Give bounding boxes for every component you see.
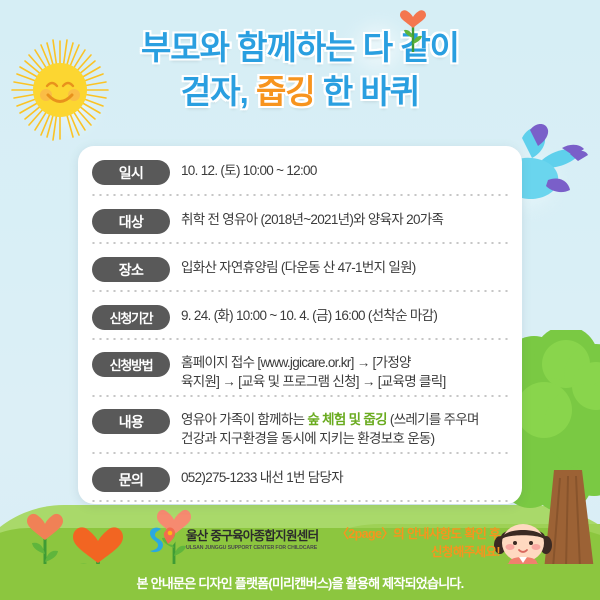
row-value-ilsi: 10. 12. (토) 10:00 ~ 12:00	[181, 158, 508, 180]
title-highlight: 줍깅	[256, 73, 315, 110]
logo-korean-name: 울산 중구육아종합지원센터	[186, 529, 318, 543]
row-divider	[90, 500, 510, 502]
row-label-content: 내용	[92, 409, 170, 434]
table-row: 신청기간 9. 24. (화) 10:00 ~ 10. 4. (금) 16:00…	[78, 292, 522, 340]
heart-flower-icon	[398, 8, 428, 52]
table-row: 문의 052)275-1233 내선 1번 담당자	[78, 454, 522, 502]
cta-line-2: 신청해주세요!	[336, 543, 500, 561]
row-label-howto: 신청방법	[92, 352, 170, 377]
title-line-1: 부모와 함께하는 다 같이	[0, 26, 600, 70]
content-highlight: 숲 체험 및 줍깅	[307, 412, 386, 427]
organization-logo: 울산 중구육아종합지원센터 ULSAN JUNGGU SUPPORT CENTE…	[146, 524, 318, 557]
info-rows: 일시 10. 12. (토) 10:00 ~ 12:00 대상 취학 전 영유아…	[78, 146, 522, 504]
page-title: 부모와 함께하는 다 같이 걷자, 줍깅 한 바퀴	[0, 26, 600, 114]
howto-line-2: 육지원] → [교육 및 프로그램 신청] → [교육명 클릭]	[181, 374, 446, 389]
row-value-daesang: 취학 전 영유아 (2018년~2021년)와 양육자 20가족	[181, 207, 508, 229]
table-row: 신청방법 홈페이지 접수 [www.jgicare.or.kr] → [가정양 …	[78, 340, 522, 397]
row-value-content: 영유아 가족이 함께하는 숲 체험 및 줍깅 (쓰레기를 주우며 건강과 지구환…	[181, 407, 508, 448]
howto-line-1: 홈페이지 접수 [www.jgicare.or.kr] → [가정양	[181, 355, 411, 370]
row-label-daesang: 대상	[92, 209, 170, 234]
table-row: 일시 10. 12. (토) 10:00 ~ 12:00	[78, 146, 522, 196]
table-row: 대상 취학 전 영유아 (2018년~2021년)와 양육자 20가족	[78, 196, 522, 244]
row-value-contact: 052)275-1233 내선 1번 담당자	[181, 465, 508, 487]
logo-english-name: ULSAN JUNGGU SUPPORT CENTER FOR CHILDCAR…	[186, 545, 318, 552]
row-label-contact: 문의	[92, 467, 170, 492]
row-value-period: 9. 24. (화) 10:00 ~ 10. 4. (금) 16:00 (선착순…	[181, 303, 508, 325]
poster-canvas: 일시 10. 12. (토) 10:00 ~ 12:00 대상 취학 전 영유아…	[0, 0, 600, 600]
cta-line-1: 〈2page〉의 안내사항도 확인 후	[336, 525, 500, 543]
table-row: 내용 영유아 가족이 함께하는 숲 체험 및 줍깅 (쓰레기를 주우며 건강과 …	[78, 397, 522, 454]
logo-mark-icon	[146, 524, 179, 557]
row-value-jangso: 입화산 자연휴양림 (다운동 산 47-1번지 일원)	[181, 255, 508, 277]
cta-note: 〈2page〉의 안내사항도 확인 후 신청해주세요!	[336, 525, 500, 561]
row-label-jangso: 장소	[92, 257, 170, 282]
content-post: (쓰레기를 주우며	[387, 412, 479, 427]
row-label-ilsi: 일시	[92, 160, 170, 185]
row-value-howto: 홈페이지 접수 [www.jgicare.or.kr] → [가정양 육지원] …	[181, 350, 508, 391]
content-line-2: 건강과 지구환경을 동시에 지키는 환경보호 운동)	[181, 431, 434, 446]
title-line-2: 걷자, 줍깅 한 바퀴	[0, 70, 600, 114]
footer-text: 본 안내문은 디자인 플랫폼(미리캔버스)을 활용해 제작되었습니다.	[137, 573, 464, 592]
content-pre: 영유아 가족이 함께하는	[181, 412, 307, 427]
title-line-2-post: 한 바퀴	[315, 73, 419, 110]
footer-bar: 본 안내문은 디자인 플랫폼(미리캔버스)을 활용해 제작되었습니다.	[0, 564, 600, 600]
title-line-2-pre: 걷자,	[181, 73, 256, 110]
table-row: 장소 입화산 자연휴양림 (다운동 산 47-1번지 일원)	[78, 244, 522, 292]
row-label-period: 신청기간	[92, 305, 170, 330]
